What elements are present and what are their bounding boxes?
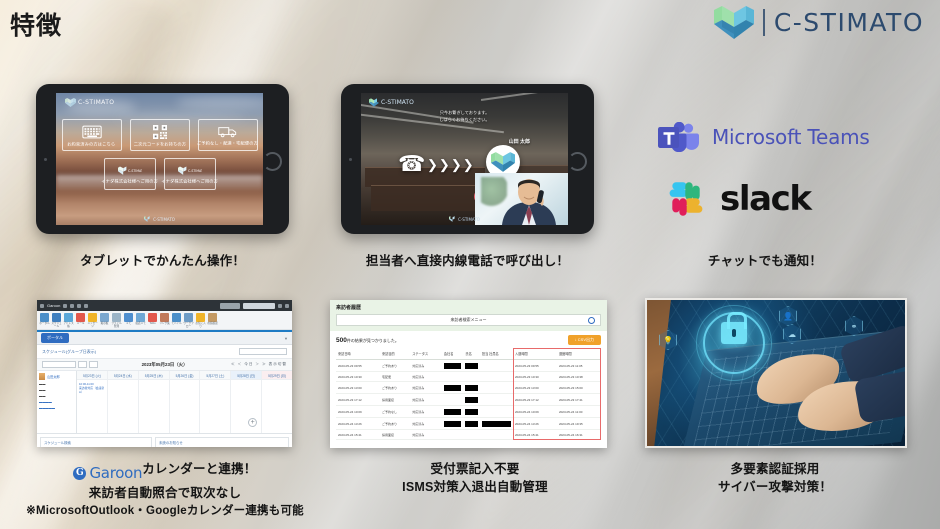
bulletin-icon [100,313,109,322]
garoon-day-header: 5月27日 (土) [200,371,230,380]
visitor-cell-in-time: 2023-05-23 10:30 [513,372,557,382]
redacted-value [465,421,477,427]
visitor-cell-company [442,418,464,430]
c-stimato-heart-logo-icon [369,98,379,107]
add-event-button[interactable]: + [248,418,257,427]
decorative-cloud [176,96,263,109]
visitor-cell-in-time: 2023-05-23 17:12 [513,394,557,406]
file-icon [112,313,121,322]
cyber-security-photo: 💡 ☁ 👤 ⚭ [645,298,907,448]
garoon-toolbar-addressbook-icon[interactable]: アドレス帳 [63,313,74,328]
visitor-cell-name [463,430,479,440]
visitor-cell-purpose: 採用面接 [380,394,410,406]
garoon-row-tag: ▬▬ [39,382,74,386]
garoon-day-cell[interactable]: 10:00-11:00 来訪者対応（会議室A） [77,380,107,433]
visitor-cell-purpose: 採用面接 [380,430,410,440]
visitor-cell-name [463,372,479,382]
mobile-icon [172,313,181,322]
portlet-title: 未読のお知らせ [159,440,285,445]
kiosk-button-appointment[interactable]: お約束済みの方はこちら [62,119,122,151]
kiosk-button-label: イナダ株式会社様へご用の方 [161,177,218,183]
garoon-day-header: 5月29日 (月) [262,371,292,380]
garoon-tab-options[interactable]: ▼ [284,336,288,341]
garoon-toolbar-phonemsg-icon[interactable]: 電話メモ [135,313,146,326]
videocall-logo-text: C-STIMATO [381,99,414,106]
tablet-screen-kiosk: C-STIMATO [56,93,263,225]
cabinet-icon [208,313,217,322]
qr-code-icon [153,125,167,139]
help-icon[interactable] [84,304,88,308]
visitor-cell-out-time: 2023-05-23 17:41 [557,394,601,406]
garoon-day-cell[interactable] [139,380,169,433]
feature-caption-mfa: 多要素認証採用 サイバー攻撃対策！ [640,460,910,496]
visitor-column-header: 担当 社員名 [480,348,513,360]
visitor-column-header: 退館時間 [557,348,601,360]
home-icon[interactable] [63,304,67,308]
c-stimato-heart-logo-icon [144,216,151,222]
visitor-column-header: 来訪目的 [380,348,410,360]
visitor-header: 来訪者履歴 来訪者検索メニュー [330,300,607,331]
todo-icon [148,313,157,322]
visitor-cell-status: 対応済み [410,372,442,382]
garoon-day-header: 5月25日 (木) [139,371,169,380]
garoon-day-column: 5月26日 (金) [170,371,201,433]
visitor-cell-in-time: 2023-05-24 10:09 [513,406,557,418]
visitor-cell-out-time: 2023-05-24 16:31 [557,430,601,440]
visitor-search-menu-label: 来訪者検索メニュー [451,317,487,323]
garoon-brand-name: Garoon [89,463,142,485]
visitor-cell-staff [480,372,513,382]
garoon-day-cell[interactable]: + [231,380,261,433]
visitor-cell-purpose: ご予約なし [380,406,410,418]
breadcrumb: スケジュール(グループ日表示) [42,349,96,355]
csv-export-button[interactable]: ↓ CSV出力 [568,335,601,345]
table-row[interactable]: 2023-05-24 15:41採用面接対応済み2023-05-24 15:41… [336,430,601,440]
page-title: 特徴 [10,6,62,42]
notification-icon[interactable] [70,304,74,308]
c-stimato-heart-logo-icon [491,152,515,172]
visitor-cell-staff [480,406,513,418]
kiosk-button-label: 二次元コードをお持ちの方 [133,140,185,146]
table-row[interactable]: 2023-05-24 13:26ご予約あり対応済み2023-05-24 13:2… [336,418,601,430]
c-stimato-logo-icon: C-STIMATO [178,165,202,176]
c-stimato-logo-icon: C-STIMATO [118,165,142,176]
videocall-status-message: 只今お繋ぎしております。 しばらくお待ちください。 [439,109,489,123]
garoon-day-column: 5月29日 (月) [262,371,292,433]
garoon-toolbar-label: ワークフロー [183,323,194,328]
garoon-day-header: 5月24日 (水) [108,371,138,380]
garoon-day-cell[interactable] [262,380,292,433]
garoon-keyword-input[interactable] [239,348,287,355]
table-row[interactable]: 2023-05-23 10:30宅配便対応済み2023-05-23 10:302… [336,372,601,382]
garoon-toolbar-label: アドレス帳 [63,323,74,328]
slide-canvas: 特徴 C-STIMATO [0,0,940,529]
visitor-cell-company [442,406,464,418]
garoon-date-header: 2023年05月23日（火） [142,362,188,368]
garoon-toolbar-file-icon[interactable]: ファイル管理 [111,313,122,328]
feature-caption-paperless: 受付票記入不要 ISMS対策入退出自動管理 [330,460,620,496]
visitor-cell-out-time: 2023-05-24 19:35 [557,418,601,430]
garoon-calendar-grid: 山田太郎 ▬▬ ▬▬ ▬▬ ▬▬▬▬ ▬▬▬▬▬ 5月23日 (火) 10:00… [37,371,292,434]
kiosk-button-label: お約束済みの方はこちら [67,140,115,146]
svg-text:C-STIMATO: C-STIMATO [128,169,142,173]
garoon-app-toolbar: ポータルスケジュールアドレス帳メールメッセージ掲示板ファイル管理メモ電話メモTo… [37,311,292,330]
visitor-cell-status: 対応済み [410,406,442,418]
delivery-truck-icon [218,125,238,138]
garoon-row-tag: ▬▬ [39,394,74,398]
table-row[interactable]: 2023-05-23 09:55ご予約あり対応済み2023-05-23 09:5… [336,360,601,372]
visitor-cell-status: 対応済み [410,382,442,394]
garoon-toolbar-label: お気に入り [195,323,206,328]
visitor-cell-date: 2023-05-23 17:12 [336,394,380,406]
garoon-badge-icon: G [73,467,86,480]
microsoft-teams-logo: Microsoft Teams [657,122,870,152]
garoon-app-name: Garoon [47,303,60,308]
garoon-caption-suffix: カレンダーと連携！ [142,462,256,476]
garoon-portlet-schedule-search: スケジュール検索 さらに絞り込む [40,437,152,447]
garoon-caption-line1: G Garoon カレンダーと連携！ [0,460,330,484]
garoon-toolbar-label: 電話メモ [135,323,146,326]
garoon-day-column: 5月27日 (土) [200,371,231,433]
microsoft-teams-icon [657,122,701,152]
redacted-value [482,421,511,427]
visitor-cell-status: 対応済み [410,394,442,406]
tablet-device-frame-kiosk: C-STIMATO [36,84,289,234]
visitor-column-header: 氏名 [463,348,479,360]
visitor-cell-date: 2023-05-24 10:09 [336,406,380,418]
visitor-table-header-row: 来訪日時来訪目的ステータス会社名氏名担当 社員名入退時間退館時間 [336,348,601,360]
visitor-cell-status: 対応済み [410,430,442,440]
slack-logo: slack [663,176,811,222]
garoon-tab-row: ポータル ▼ [37,332,292,345]
visitor-cell-name [463,406,479,418]
visitor-cell-name [463,418,479,430]
redacted-value [465,397,477,403]
visitor-table: 来訪日時来訪目的ステータス会社名氏名担当 社員名入退時間退館時間 2023-05… [336,348,601,440]
visitor-result-row: 500件の結果が見つかりました。 ↓ CSV出力 [330,331,607,348]
garoon-day-header: 5月23日 (火) [77,371,107,380]
group-dropdown[interactable] [42,361,76,368]
brand-name: C-STIMATO [774,8,924,37]
kiosk-button-label: イナダ株式会社様へご用の方 [101,177,158,183]
user-menu[interactable] [220,303,240,309]
visitor-cell-purpose: ご予約あり [380,418,410,430]
garoon-toolbar-label: ポータル [39,323,50,326]
message-icon [88,313,97,322]
visitor-search-menu-bar[interactable]: 来訪者検索メニュー [336,314,601,326]
visitor-cell-staff [480,360,513,372]
garoon-portlet-notices: 未読のお知らせ アカウントの更新はありません。 [155,437,289,447]
kiosk-button-company-b[interactable]: C-STIMATO イナダ株式会社様へご用の方 [164,158,216,190]
kiosk-button-row: お約束済みの方はこちら [62,119,258,151]
garoon-toolbar-label: リンク集 [159,323,170,326]
visitor-cell-out-time: 2023-05-24 11:00 [557,406,601,418]
videocall-status-line2: しばらくお待ちください。 [439,116,489,123]
table-row[interactable]: 2023-05-23 17:12採用面接対応済み2023-05-23 17:12… [336,394,601,406]
next-button[interactable] [89,361,98,368]
redacted-value [444,409,462,415]
slack-icon [663,176,709,222]
visitor-cell-date: 2023-05-24 15:41 [336,430,380,440]
tablet-screen-videocall: C-STIMATO 只今お繋ぎしております。 しばらくお待ちください。 山田 太… [361,93,568,225]
visitor-cell-date: 2023-05-23 13:00 [336,382,380,394]
visitor-cell-company [442,382,464,394]
redacted-value [465,385,477,391]
garoon-toolbar-bulletin-icon[interactable]: 掲示板 [99,313,110,326]
bookmark-icon[interactable] [77,304,81,308]
visitor-cell-out-time: 2023-05-23 10:38 [557,372,601,382]
garoon-toolbar-label: メール [75,323,86,326]
garoon-toolbar-memo-icon[interactable]: メモ [123,313,134,326]
garoon-toolbar-mail-icon[interactable]: メール [75,313,86,326]
table-row[interactable]: 2023-05-24 10:09ご予約なし対応済み2023-05-24 10:0… [336,406,601,418]
feature-caption-tablet-operation: タブレットでかんたん操作！ [36,252,289,270]
visitor-column-header: 入退時間 [513,348,557,360]
visitor-cell-in-time: 2023-05-24 15:41 [513,430,557,440]
visitor-column-header: 来訪日時 [336,348,380,360]
garoon-topbar-right [220,303,289,309]
garoon-toolbar-mobile-icon[interactable]: モバイル [171,313,182,326]
garoon-calendar-people-column: 山田太郎 ▬▬ ▬▬ ▬▬ ▬▬▬▬ ▬▬▬▬▬ [37,371,77,433]
tablet-device-frame-videocall: C-STIMATO 只今お繋ぎしております。 しばらくお待ちください。 山田 太… [341,84,594,234]
paperless-caption-line1: 受付票記入不要 [330,460,620,478]
garoon-date-nav[interactable]: ≪ ＜ 今日 ＞ ≫ 表示切替 [231,362,287,367]
garoon-day-cell[interactable] [170,380,200,433]
visitor-history-screenshot: 来訪者履歴 来訪者検索メニュー 500件の結果が見つかりました。 ↓ CSV出力… [330,300,607,448]
search-input[interactable] [243,303,275,309]
videocall-footer-text: C-STIMATO [458,217,480,222]
garoon-person-row[interactable]: 山田太郎 [39,373,74,380]
garoon-toolbar-todo-icon[interactable]: ToDo [147,313,158,326]
garoon-brand-inline: G Garoon [73,463,142,485]
kiosk-button-grid: お約束済みの方はこちら [56,119,263,190]
link-icon [160,313,169,322]
table-row[interactable]: 2023-05-23 13:00ご予約あり対応済み2023-05-23 13:0… [336,382,601,394]
videocall-status-line1: 只今お繋ぎしております。 [439,109,489,116]
visitor-result-text: 件の結果が見つかりました。 [347,338,399,343]
avatar [39,373,45,380]
visitor-cell-staff [480,382,513,394]
garoon-day-column: 5月23日 (火) 10:00-11:00 来訪者対応（会議室A） [77,371,108,433]
microsoft-teams-label: Microsoft Teams [712,125,870,149]
addressbook-icon [64,313,73,322]
garoon-toolbar-label: スケジュール [51,323,62,328]
garoon-group-select[interactable] [42,361,98,368]
brand-divider [763,9,765,36]
portlet-title: スケジュール検索 [44,440,148,445]
portal-icon [40,313,49,322]
visitor-cell-staff [480,430,513,440]
garoon-calendar-screenshot: Garoon ポータルスケジュールアドレス帳メールメッセージ掲示板ファイル管理メ… [37,300,292,447]
chevrons-right-icon: ❯❯❯❯ [427,157,474,173]
kiosk-button-label: ご予約なし・配達・宅配便の方 [197,139,258,145]
kiosk-button-delivery[interactable]: ご予約なし・配達・宅配便の方 [198,119,258,151]
phone-handset-icon: ☎ [398,153,425,175]
videocall-header-logo: C-STIMATO [369,98,414,107]
visitor-cell-in-time: 2023-05-23 13:00 [513,382,557,394]
gear-icon[interactable] [588,317,595,324]
visitor-cell-out-time: 2023-05-23 11:05 [557,360,601,372]
gear-icon[interactable] [285,304,289,308]
garoon-toolbar-message-icon[interactable]: メッセージ [87,313,98,328]
kiosk-footer-logo: C-STIMATO [56,216,263,222]
garoon-toolbar-link-icon[interactable]: リンク集 [159,313,170,326]
visitor-cell-purpose: ご予約あり [380,360,410,372]
visitor-cell-company [442,372,464,382]
star-icon [196,313,205,322]
videocall-callee-name: 山田 太郎 [509,138,530,145]
mfa-caption-line1: 多要素認証採用 [640,460,910,478]
garoon-toolbar-label: メモ [123,323,134,326]
search-icon[interactable] [278,304,282,308]
garoon-breadcrumb-row: スケジュール(グループ日表示) [37,345,292,359]
visitor-cell-out-time: 2023-05-23 15:00 [557,382,601,394]
videocall-footer-logo: C-STIMATO [361,216,568,222]
svg-text:C-STIMATO: C-STIMATO [188,169,202,173]
workflow-icon [184,313,193,322]
garoon-toolbar-workflow-icon[interactable]: ワークフロー [183,313,194,328]
garoon-day-header: 5月28日 (日) [231,371,261,380]
visitor-column-header: ステータス [410,348,442,360]
c-stimato-heart-logo-icon [65,98,76,107]
garoon-event-title: 来訪者対応（会議室A） [79,386,105,394]
visitor-cell-status: 対応済み [410,418,442,430]
slack-label: slack [720,179,811,219]
garoon-toolbar-label: 掲示板 [99,323,110,326]
memo-icon [124,313,133,322]
c-stimato-heart-logo-icon [714,6,754,39]
visitor-cell-company [442,430,464,440]
visitor-table-wrapper: 来訪日時来訪目的ステータス会社名氏名担当 社員名入退時間退館時間 2023-05… [330,348,607,440]
redacted-value [444,363,462,369]
visitor-table-body: 2023-05-23 09:55ご予約あり対応済み2023-05-23 09:5… [336,360,601,440]
garoon-day-column: 5月25日 (木) [139,371,170,433]
visitor-cell-company [442,394,464,406]
garoon-calendar-controls: 2023年05月23日（火） ≪ ＜ 今日 ＞ ≫ 表示切替 [37,359,292,371]
feature-caption-chat-notification: チャットでも通知！ [650,252,880,270]
visitor-cell-in-time: 2023-05-24 13:26 [513,418,557,430]
visitor-cell-name [463,382,479,394]
garoon-caption-line2: 来訪者自動照合で取次なし [0,484,330,502]
visitor-cell-purpose: ご予約あり [380,382,410,394]
visitor-cell-name [463,360,479,372]
visitor-cell-name [463,394,479,406]
visitor-cell-staff [480,394,513,406]
garoon-day-column: 5月28日 (日) + [231,371,262,433]
feature-caption-garoon: G Garoon カレンダーと連携！ 来訪者自動照合で取次なし ※Microso… [0,460,330,519]
garoon-portlet-column-left: スケジュール検索 さらに絞り込む 掲示板の新着 リンク集（よく使うリンク） [40,437,152,447]
kiosk-footer-text: C-STIMATO [153,217,175,222]
visitor-cell-status: 対応済み [410,360,442,372]
redacted-value [444,421,462,427]
garoon-toolbar-cabinet-icon[interactable]: 在席確認 [207,313,218,326]
visitor-cell-purpose: 宅配便 [380,372,410,382]
garoon-toolbar-label: モバイル [171,323,182,326]
phonemsg-icon [136,313,145,322]
padlock-icon [721,322,747,344]
visitor-cell-date: 2023-05-23 10:30 [336,372,380,382]
visitor-cell-in-time: 2023-05-23 09:55 [513,360,557,372]
garoon-tab-portal[interactable]: ポータル [41,333,69,343]
schedule-icon [52,313,61,322]
garoon-day-header: 5月26日 (金) [170,371,200,380]
visitor-cell-company [442,360,464,372]
garoon-toolbar-schedule-icon[interactable]: スケジュール [51,313,62,328]
garoon-portlet-column-right: 未読のお知らせ アカウントの更新はありません。 ▬▬ ▬▬▬ ▬▬▬ ▬▬ ▬▬… [155,437,289,447]
garoon-toolbar-label: ToDo [147,323,158,326]
visitor-page-title: 来訪者履歴 [336,304,601,311]
brand-logo: C-STIMATO [714,6,924,39]
garoon-day-cell[interactable] [200,380,230,433]
visitor-column-header: 会社名 [442,348,464,360]
paperless-caption-line2: ISMS対策入退出自動管理 [330,478,620,496]
menu-grid-icon[interactable] [40,304,44,308]
kiosk-button-company-a[interactable]: C-STIMATO イナダ株式会社様へご用の方 [104,158,156,190]
visitor-cell-date: 2023-05-24 13:26 [336,418,380,430]
garoon-person-name: 山田太郎 [47,374,60,379]
kiosk-button-row: C-STIMATO イナダ株式会社様へご用の方 C-STIMATO イナダ株式会… [104,158,216,190]
garoon-toolbar-label: ファイル管理 [111,323,122,328]
garoon-topbar: Garoon [37,300,292,311]
garoon-add-member-link[interactable]: ▬▬▬▬ [39,400,74,404]
garoon-row-tag: ▬▬ [39,388,74,392]
visitor-result-count: 500件の結果が見つかりました。 [336,337,399,344]
visitor-cell-date: 2023-05-23 09:55 [336,360,380,372]
visitor-table-head: 来訪日時来訪目的ステータス会社名氏名担当 社員名入退時間退館時間 [336,348,601,360]
visitor-cell-staff [480,418,513,430]
garoon-toolbar-portal-icon[interactable]: ポータル [39,313,50,326]
prev-button[interactable] [78,361,87,368]
garoon-portlet-area: スケジュール検索 さらに絞り込む 掲示板の新着 リンク集（よく使うリンク） 未読… [37,434,292,447]
redacted-value [465,409,477,415]
garoon-toolbar-label: メッセージ [87,323,98,328]
mail-icon [76,313,85,322]
visitor-result-number: 500 [336,337,347,344]
mfa-caption-line2: サイバー攻撃対策！ [640,478,910,496]
feature-caption-direct-call: 担当者へ直接内線電話で呼び出し！ [330,252,605,270]
garoon-toolbar-star-icon[interactable]: お気に入り [195,313,206,328]
redacted-value [465,363,477,369]
kiosk-button-qrcode[interactable]: 二次元コードをお持ちの方 [130,119,190,151]
garoon-day-cell[interactable] [108,380,138,433]
kiosk-logo-text: C-STIMATO [78,99,114,106]
garoon-settings-link[interactable]: ▬▬▬▬▬ [39,406,74,410]
garoon-caption-line3: ※MicrosoftOutlook・Googleカレンダー連携も可能 [0,503,330,520]
c-stimato-heart-logo-icon [449,216,456,222]
garoon-day-column: 5月24日 (水) [108,371,139,433]
keyboard-icon [82,125,102,139]
redacted-value [444,385,462,391]
kiosk-header-logo: C-STIMATO [65,98,114,107]
garoon-toolbar-label: 在席確認 [207,323,218,326]
